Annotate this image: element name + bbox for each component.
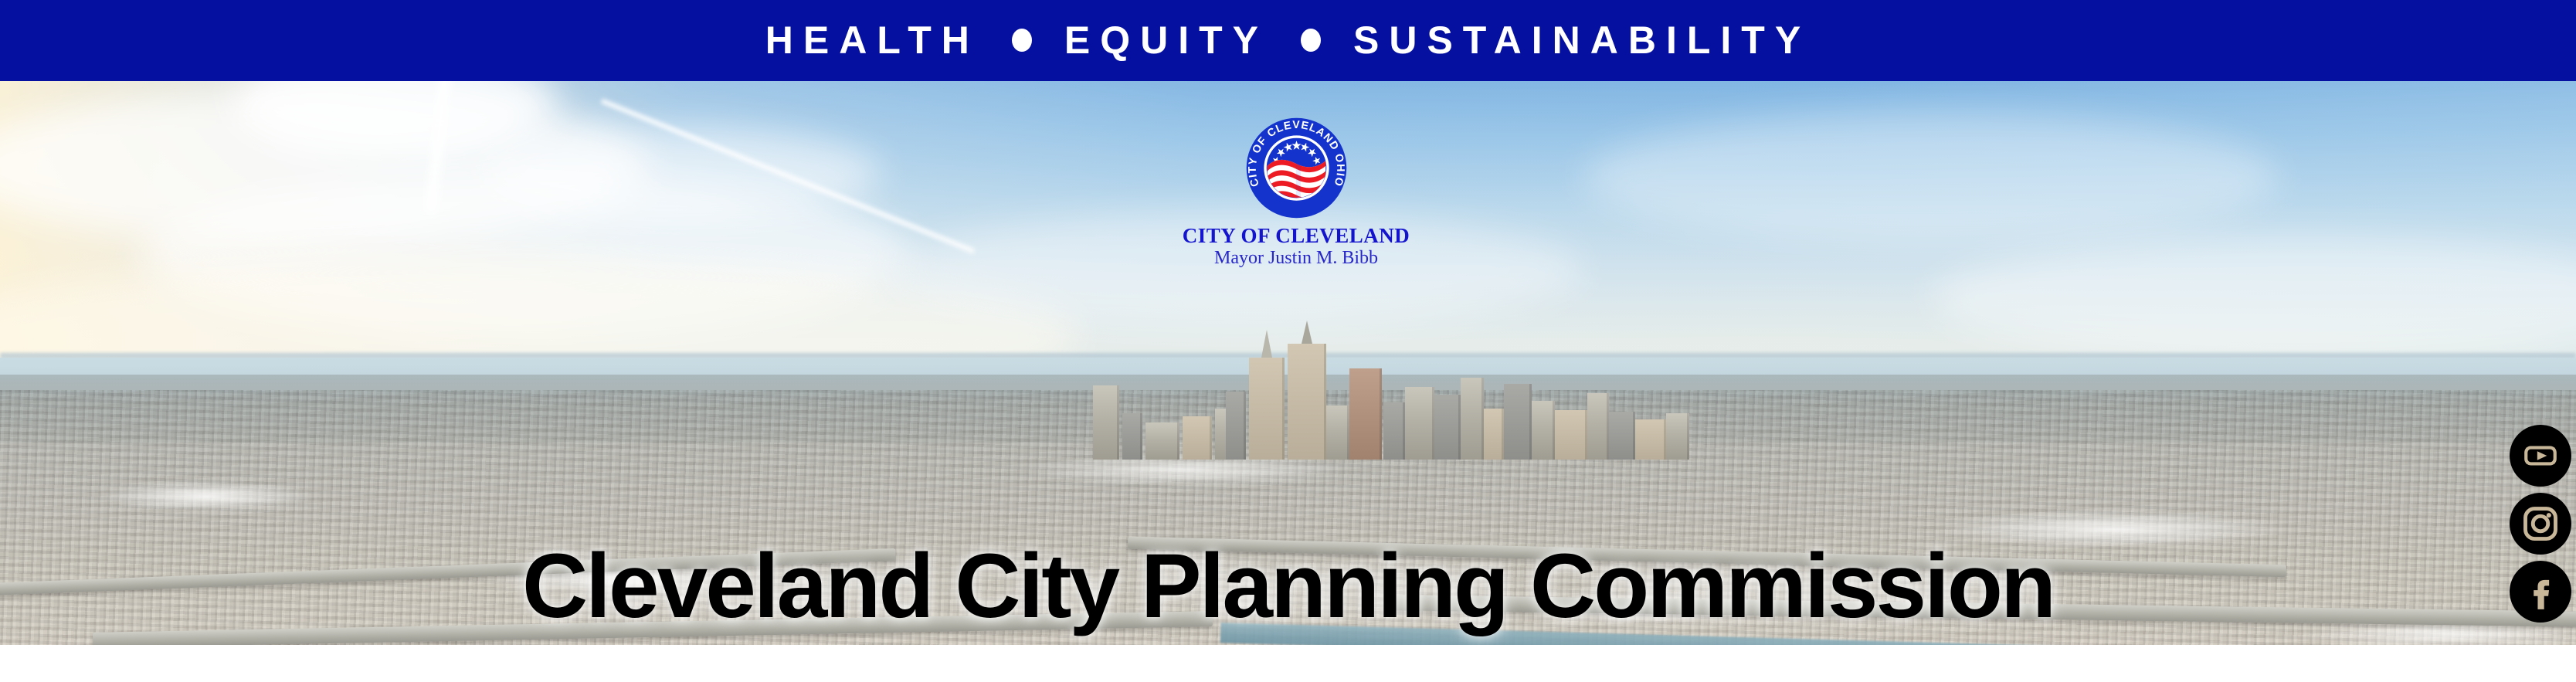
youtube-icon bbox=[2521, 436, 2560, 475]
social-link-youtube[interactable] bbox=[2510, 425, 2571, 487]
bullet-dot-icon bbox=[1301, 29, 1321, 52]
tagline-word-sustainability: SUSTAINABILITY bbox=[1353, 21, 1811, 59]
hero-photo: CITY OF CLEVELAND OHIO bbox=[0, 81, 2576, 645]
social-link-facebook[interactable] bbox=[2510, 561, 2571, 623]
brand-subtitle: Mayor Justin M. Bibb bbox=[1180, 246, 1412, 270]
page-root: HEALTH EQUITY SUSTAINABILITY bbox=[0, 0, 2576, 682]
facebook-icon bbox=[2521, 572, 2560, 611]
downtown-skyline bbox=[1078, 336, 1719, 460]
tagline-word-equity: EQUITY bbox=[1064, 21, 1268, 59]
tagline-banner: HEALTH EQUITY SUSTAINABILITY bbox=[0, 0, 2576, 81]
page-title: Cleveland City Planning Commission bbox=[0, 541, 2576, 632]
city-of-cleveland-seal-icon: CITY OF CLEVELAND OHIO bbox=[1244, 116, 1349, 220]
bullet-dot-icon bbox=[1012, 29, 1032, 52]
social-links bbox=[2510, 425, 2571, 623]
instagram-icon bbox=[2520, 504, 2561, 544]
brand-title: CITY OF CLEVELAND bbox=[1180, 225, 1412, 246]
social-link-instagram[interactable] bbox=[2510, 493, 2571, 555]
tagline: HEALTH EQUITY SUSTAINABILITY bbox=[765, 21, 1811, 59]
tagline-word-health: HEALTH bbox=[765, 21, 979, 59]
city-brand-block: CITY OF CLEVELAND OHIO bbox=[1180, 116, 1412, 270]
